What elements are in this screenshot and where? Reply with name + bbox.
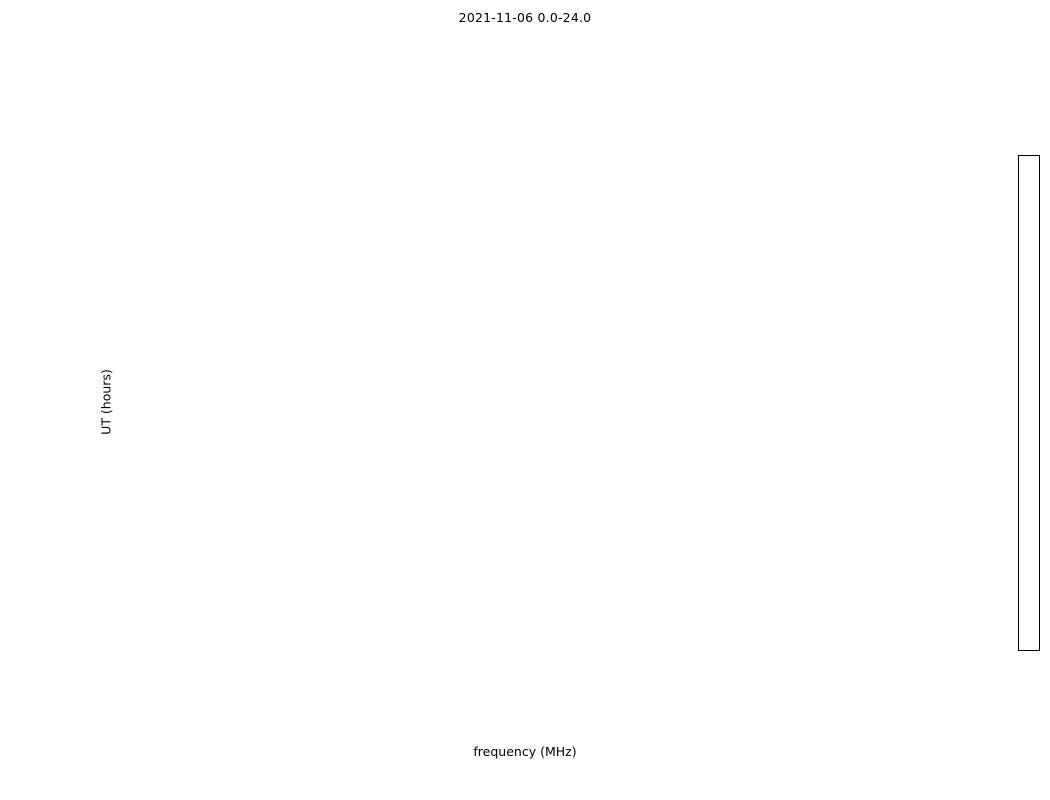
y-axis-label: UT (hours) <box>99 369 114 435</box>
figure-suptitle: 2021-11-06 0.0-24.0 <box>0 10 1050 25</box>
colorbar[interactable] <box>1018 155 1040 651</box>
x-axis-label: frequency (MHz) <box>0 744 1050 759</box>
figure-canvas: 2021-11-06 0.0-24.0 UT (hours) frequency… <box>0 0 1050 800</box>
colorbar-gradient <box>1018 155 1040 651</box>
